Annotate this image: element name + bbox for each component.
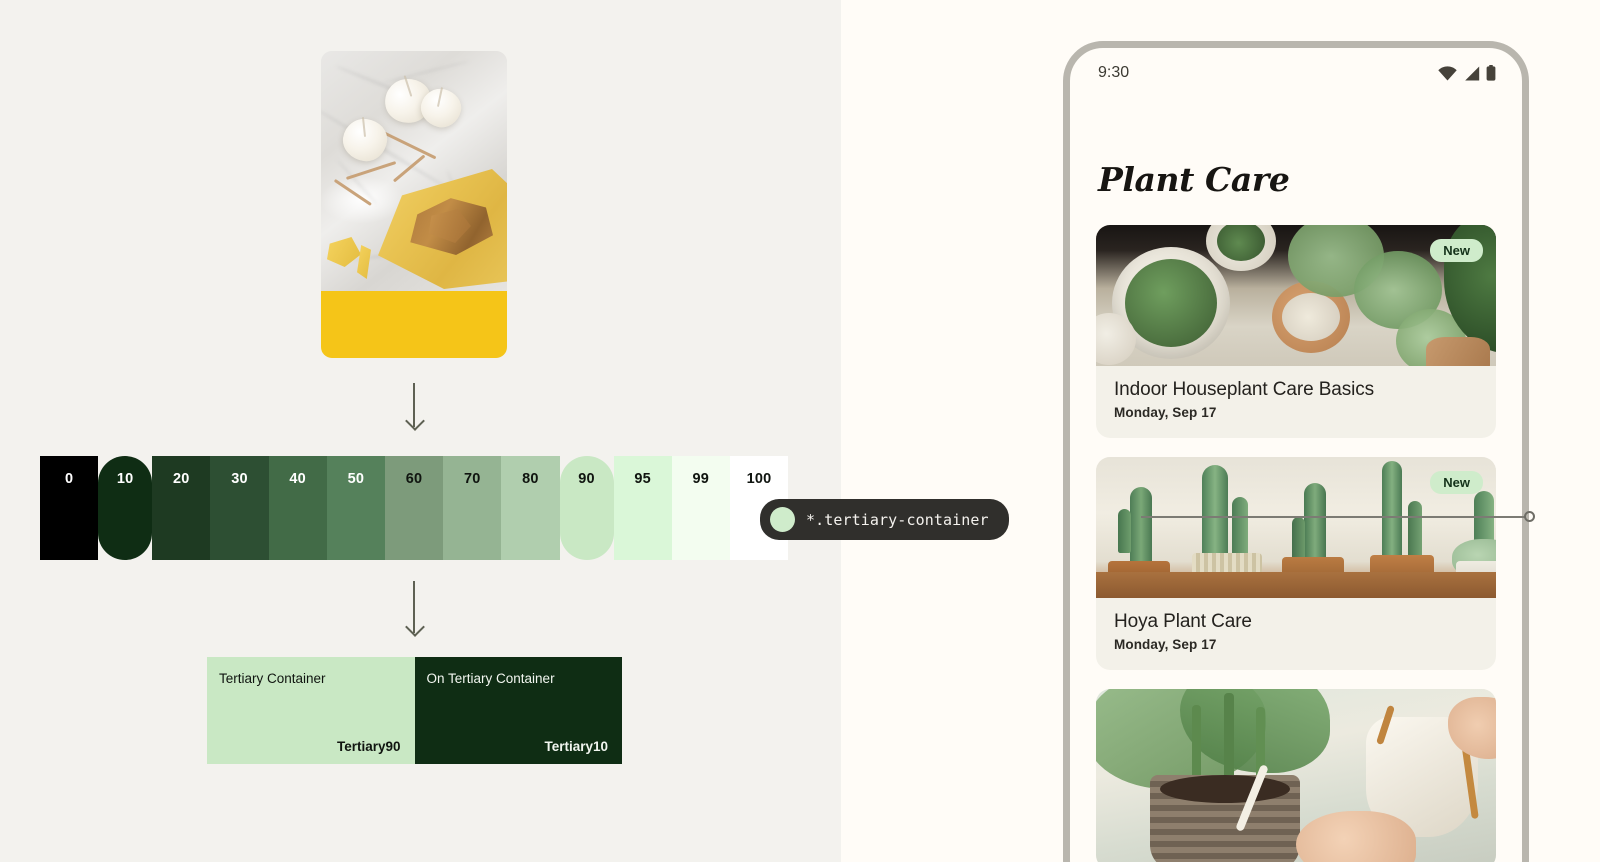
card-title: Indoor Houseplant Care Basics (1114, 379, 1478, 401)
role-tone-value: Tertiary90 (219, 739, 401, 754)
status-time: 9:30 (1098, 64, 1129, 82)
card-list: New Indoor Houseplant Care Basics Monday… (1070, 225, 1522, 862)
tone-label: 80 (522, 471, 539, 487)
tone-label: 20 (173, 471, 190, 487)
tone-swatch-95[interactable]: 95 (614, 456, 672, 560)
role-label: On Tertiary Container (427, 671, 609, 686)
tone-swatch-40[interactable]: 40 (269, 456, 327, 560)
color-role-box[interactable]: Tertiary ContainerTertiary90 (207, 657, 415, 764)
tone-label: 99 (693, 471, 710, 487)
tone-label: 0 (65, 471, 73, 487)
role-tone-value: Tertiary10 (427, 739, 609, 754)
color-role-boxes: Tertiary ContainerTertiary90On Tertiary … (207, 657, 622, 764)
screenshot-root: 01020304050607080909599100 Tertiary Cont… (0, 0, 1600, 862)
token-color-swatch (770, 507, 795, 532)
preview-panel: 9:30 Plant Care (841, 0, 1600, 862)
cellular-signal-icon (1463, 66, 1480, 81)
page-title: Plant Care (1098, 160, 1522, 199)
tone-label: 30 (231, 471, 248, 487)
tone-swatch-90[interactable]: 90 (560, 456, 614, 560)
tone-swatch-10[interactable]: 10 (98, 456, 152, 560)
tone-label: 40 (289, 471, 306, 487)
down-arrow-icon (413, 383, 415, 427)
tone-label: 100 (747, 471, 772, 487)
tone-label: 50 (348, 471, 365, 487)
tone-swatch-20[interactable]: 20 (152, 456, 210, 560)
card-body: Indoor Houseplant Care Basics Monday, Se… (1096, 366, 1496, 438)
phone-mockup: 9:30 Plant Care (1063, 41, 1529, 862)
role-label: Tertiary Container (219, 671, 401, 686)
card-body: Hoya Plant Care Monday, Sep 17 (1096, 598, 1496, 670)
card-date: Monday, Sep 17 (1114, 637, 1478, 652)
status-badge: New (1430, 239, 1483, 262)
battery-icon (1486, 65, 1496, 81)
tone-swatch-70[interactable]: 70 (443, 456, 501, 560)
resin-slab-shape (375, 169, 507, 289)
status-bar: 9:30 (1070, 48, 1522, 98)
tone-label: 60 (406, 471, 423, 487)
tooltip-leader-line (1141, 516, 1525, 518)
tone-swatch-99[interactable]: 99 (672, 456, 730, 560)
list-item[interactable] (1096, 689, 1496, 862)
tone-swatch-60[interactable]: 60 (385, 456, 443, 560)
tone-label: 70 (464, 471, 481, 487)
wifi-icon (1438, 66, 1457, 81)
token-name: *.tertiary-container (806, 511, 989, 529)
card-image-cacti: New (1096, 457, 1496, 598)
color-role-box[interactable]: On Tertiary ContainerTertiary10 (415, 657, 623, 764)
source-photo (321, 51, 507, 291)
card-title: Hoya Plant Care (1114, 611, 1478, 633)
tonal-palette-ramp: 01020304050607080909599100 (40, 456, 788, 560)
tone-swatch-80[interactable]: 80 (501, 456, 559, 560)
list-item[interactable]: New Indoor Houseplant Care Basics Monday… (1096, 225, 1496, 438)
card-image-succulents: New (1096, 225, 1496, 366)
tone-swatch-50[interactable]: 50 (327, 456, 385, 560)
tone-label: 10 (117, 471, 134, 487)
tone-label: 95 (634, 471, 651, 487)
status-badge: New (1430, 471, 1483, 494)
card-date: Monday, Sep 17 (1114, 405, 1478, 420)
card-image-watering (1096, 689, 1496, 862)
list-item[interactable]: New Hoya Plant Care Monday, Sep 17 (1096, 457, 1496, 670)
extracted-color-swatch (321, 291, 507, 358)
tone-swatch-30[interactable]: 30 (210, 456, 268, 560)
down-arrow-icon (413, 581, 415, 633)
tooltip-target-dot (1524, 511, 1535, 522)
palette-panel: 01020304050607080909599100 Tertiary Cont… (0, 0, 841, 862)
tone-label: 90 (578, 471, 595, 487)
tone-swatch-0[interactable]: 0 (40, 456, 98, 560)
token-tooltip[interactable]: *.tertiary-container (760, 499, 1009, 540)
source-image-card[interactable] (321, 51, 507, 358)
dried-flower-shape (340, 116, 389, 164)
